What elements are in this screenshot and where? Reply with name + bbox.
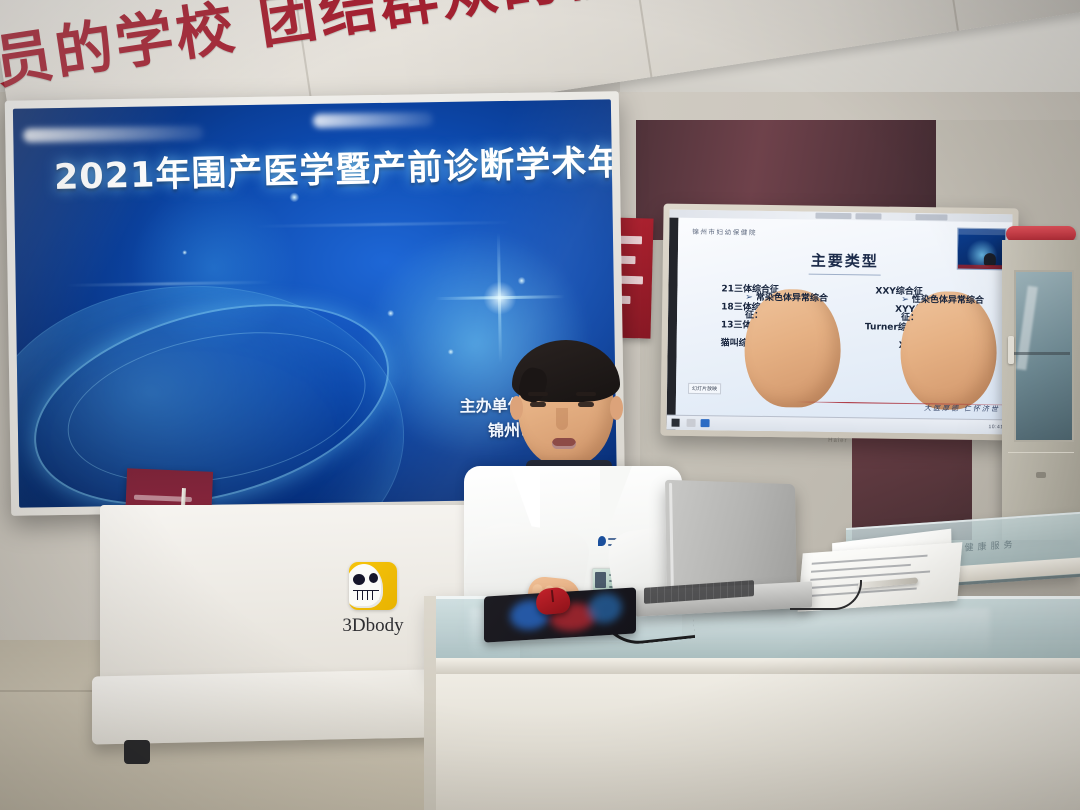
cabinet-shelf [1014,352,1070,355]
bullet-arrow-icon: ➢ [745,293,753,303]
desk-left-panel [424,596,436,810]
cabinet-knob[interactable] [1036,472,1046,478]
slide-left-column: ➢常染色体异常综合征： 21三体综合征 18三体综合征 13三体综合征 猫叫综合… [697,280,838,354]
skull-icon [349,562,397,610]
caster-wheel [124,740,150,764]
hospital-logo: 锦州市妇幼保健院 [692,226,757,237]
conference-room-photo: 员的学校 团结群众的核心 攻坚克难的堡垒 2021年围产医学暨产前诊断学术 [0,0,1080,810]
taskbar-icon[interactable] [687,419,696,427]
3dbody-label: 3Dbody [318,615,428,637]
badge-photo [595,572,606,588]
desk-front-panel [424,674,1080,810]
left-column-heading: ➢常染色体异常综合征： [744,289,842,408]
cabinet-glass-door[interactable] [1014,270,1074,442]
bullet-arrow-icon: ➢ [901,295,909,305]
powerpoint-slide: 锦州市妇幼保健院 主要类型 ➢常染色体异常综合征： 21三体综合征 18三体综合… [676,218,1013,421]
screen-lamp-reflection [313,112,433,128]
monitor-screen: 锦州市妇幼保健院 主要类型 ➢常染色体异常综合征： 21三体综合征 18三体综合… [666,210,1012,435]
screen-lamp-reflection [23,126,203,143]
cabinet-handle[interactable] [1008,336,1014,364]
nose [556,408,568,430]
slide-right-column: ➢性染色体异常综合征： XXY综合征 XYY综合征 Turner综合征 X三体综… [853,282,1012,356]
metal-cabinet[interactable] [1002,240,1080,540]
live-video-inset[interactable] [957,228,1007,271]
right-column-heading: ➢性染色体异常综合征： [900,291,998,410]
3dbody-logo: 3Dbody [318,562,428,637]
slideshow-indicator: 幻灯片放映 [688,383,721,394]
conference-title: 2021年围产医学暨产前诊断学术年会 [53,134,614,200]
wall-monitor[interactable]: 锦州市妇幼保健院 主要类型 ➢常染色体异常综合征： 21三体综合征 18三体综合… [660,204,1018,441]
coat-logo-mark [598,536,606,546]
monitor-brand-label: Haier [828,438,847,444]
mouth [552,438,576,449]
start-button-icon[interactable] [672,419,680,427]
slide-footer-calligraphy: 大医厚德 仁怀济世 [924,403,1000,414]
taskbar-icon[interactable] [701,419,710,427]
hospital-logo-text: 锦州市妇幼保健院 [692,226,757,237]
